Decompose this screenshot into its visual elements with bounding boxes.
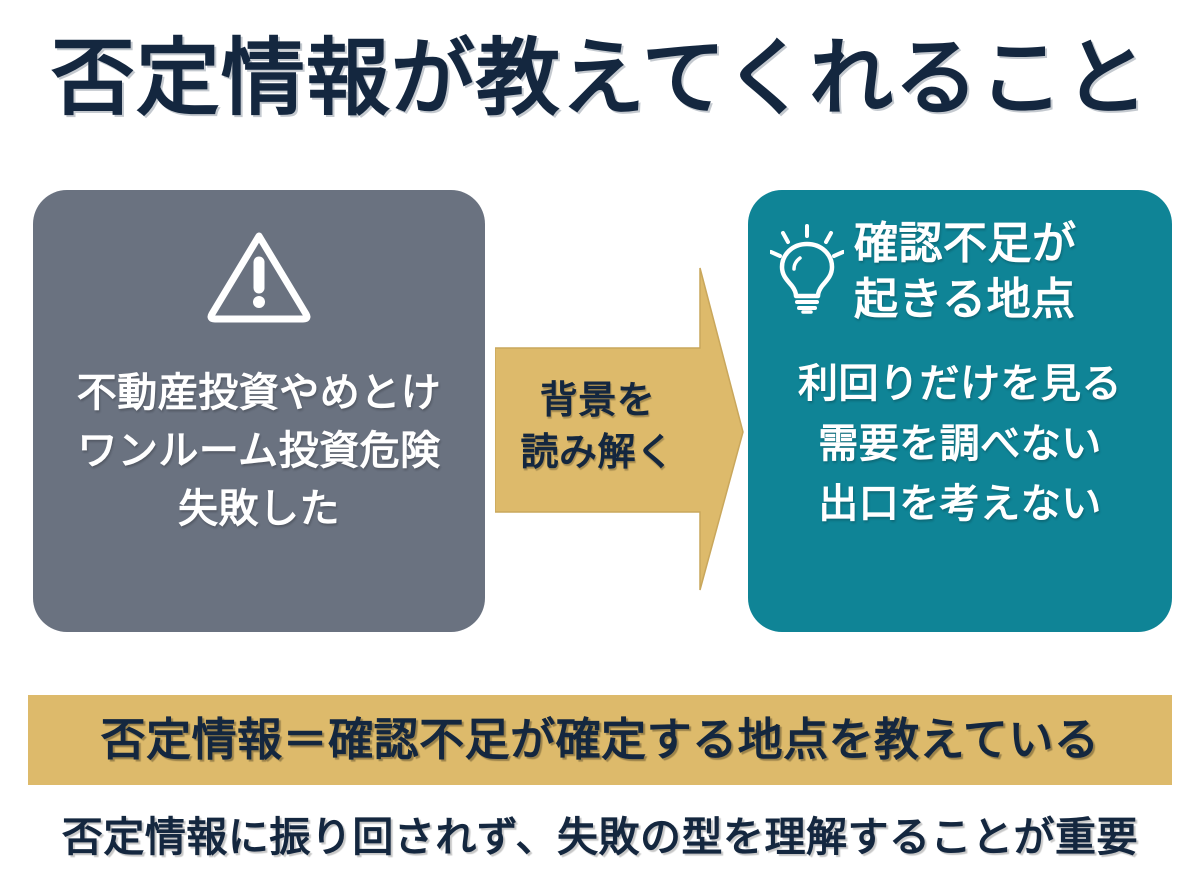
insight-body-line-1: 利回りだけを見る <box>764 354 1156 414</box>
problem-line-1: 不動産投資やめとけ <box>33 364 485 422</box>
problem-line-3: 失敗した <box>33 480 485 538</box>
insight-body-line-2: 需要を調べない <box>764 414 1156 474</box>
problem-line-2: ワンルーム投資危険 <box>33 422 485 480</box>
warning-triangle-icon <box>204 228 314 324</box>
insight-heading: 確認不足が 起きる地点 <box>844 216 1077 328</box>
footer-note: 否定情報に振り回されず、失敗の型を理解することが重要 <box>0 812 1200 862</box>
insight-card: 確認不足が 起きる地点 利回りだけを見る 需要を調べない 出口を考えない <box>748 190 1172 632</box>
insight-heading-line-2: 起きる地点 <box>854 272 1077 328</box>
problem-card: 不動産投資やめとけ ワンルーム投資危険 失敗した <box>33 190 485 632</box>
transition-arrow: 背景を 読み解く <box>495 262 747 596</box>
arrow-line-1: 背景を <box>495 374 700 426</box>
lightbulb-icon <box>770 222 844 314</box>
arrow-line-2: 読み解く <box>495 426 700 478</box>
problem-text-block: 不動産投資やめとけ ワンルーム投資危険 失敗した <box>33 364 485 538</box>
infographic-canvas: 否定情報が教えてくれること 不動産投資やめとけ ワンルーム投資危険 失敗した 背… <box>0 0 1200 896</box>
insight-body-line-3: 出口を考えない <box>764 474 1156 534</box>
summary-banner: 否定情報＝確認不足が確定する地点を教えている <box>28 695 1172 785</box>
insight-body-block: 利回りだけを見る 需要を調べない 出口を考えない <box>764 354 1156 534</box>
page-title: 否定情報が教えてくれること <box>0 32 1200 124</box>
arrow-label: 背景を 読み解く <box>495 374 700 478</box>
summary-banner-text: 否定情報＝確認不足が確定する地点を教えている <box>101 713 1100 767</box>
insight-heading-line-1: 確認不足が <box>854 216 1077 272</box>
insight-header: 確認不足が 起きる地点 <box>764 216 1156 328</box>
